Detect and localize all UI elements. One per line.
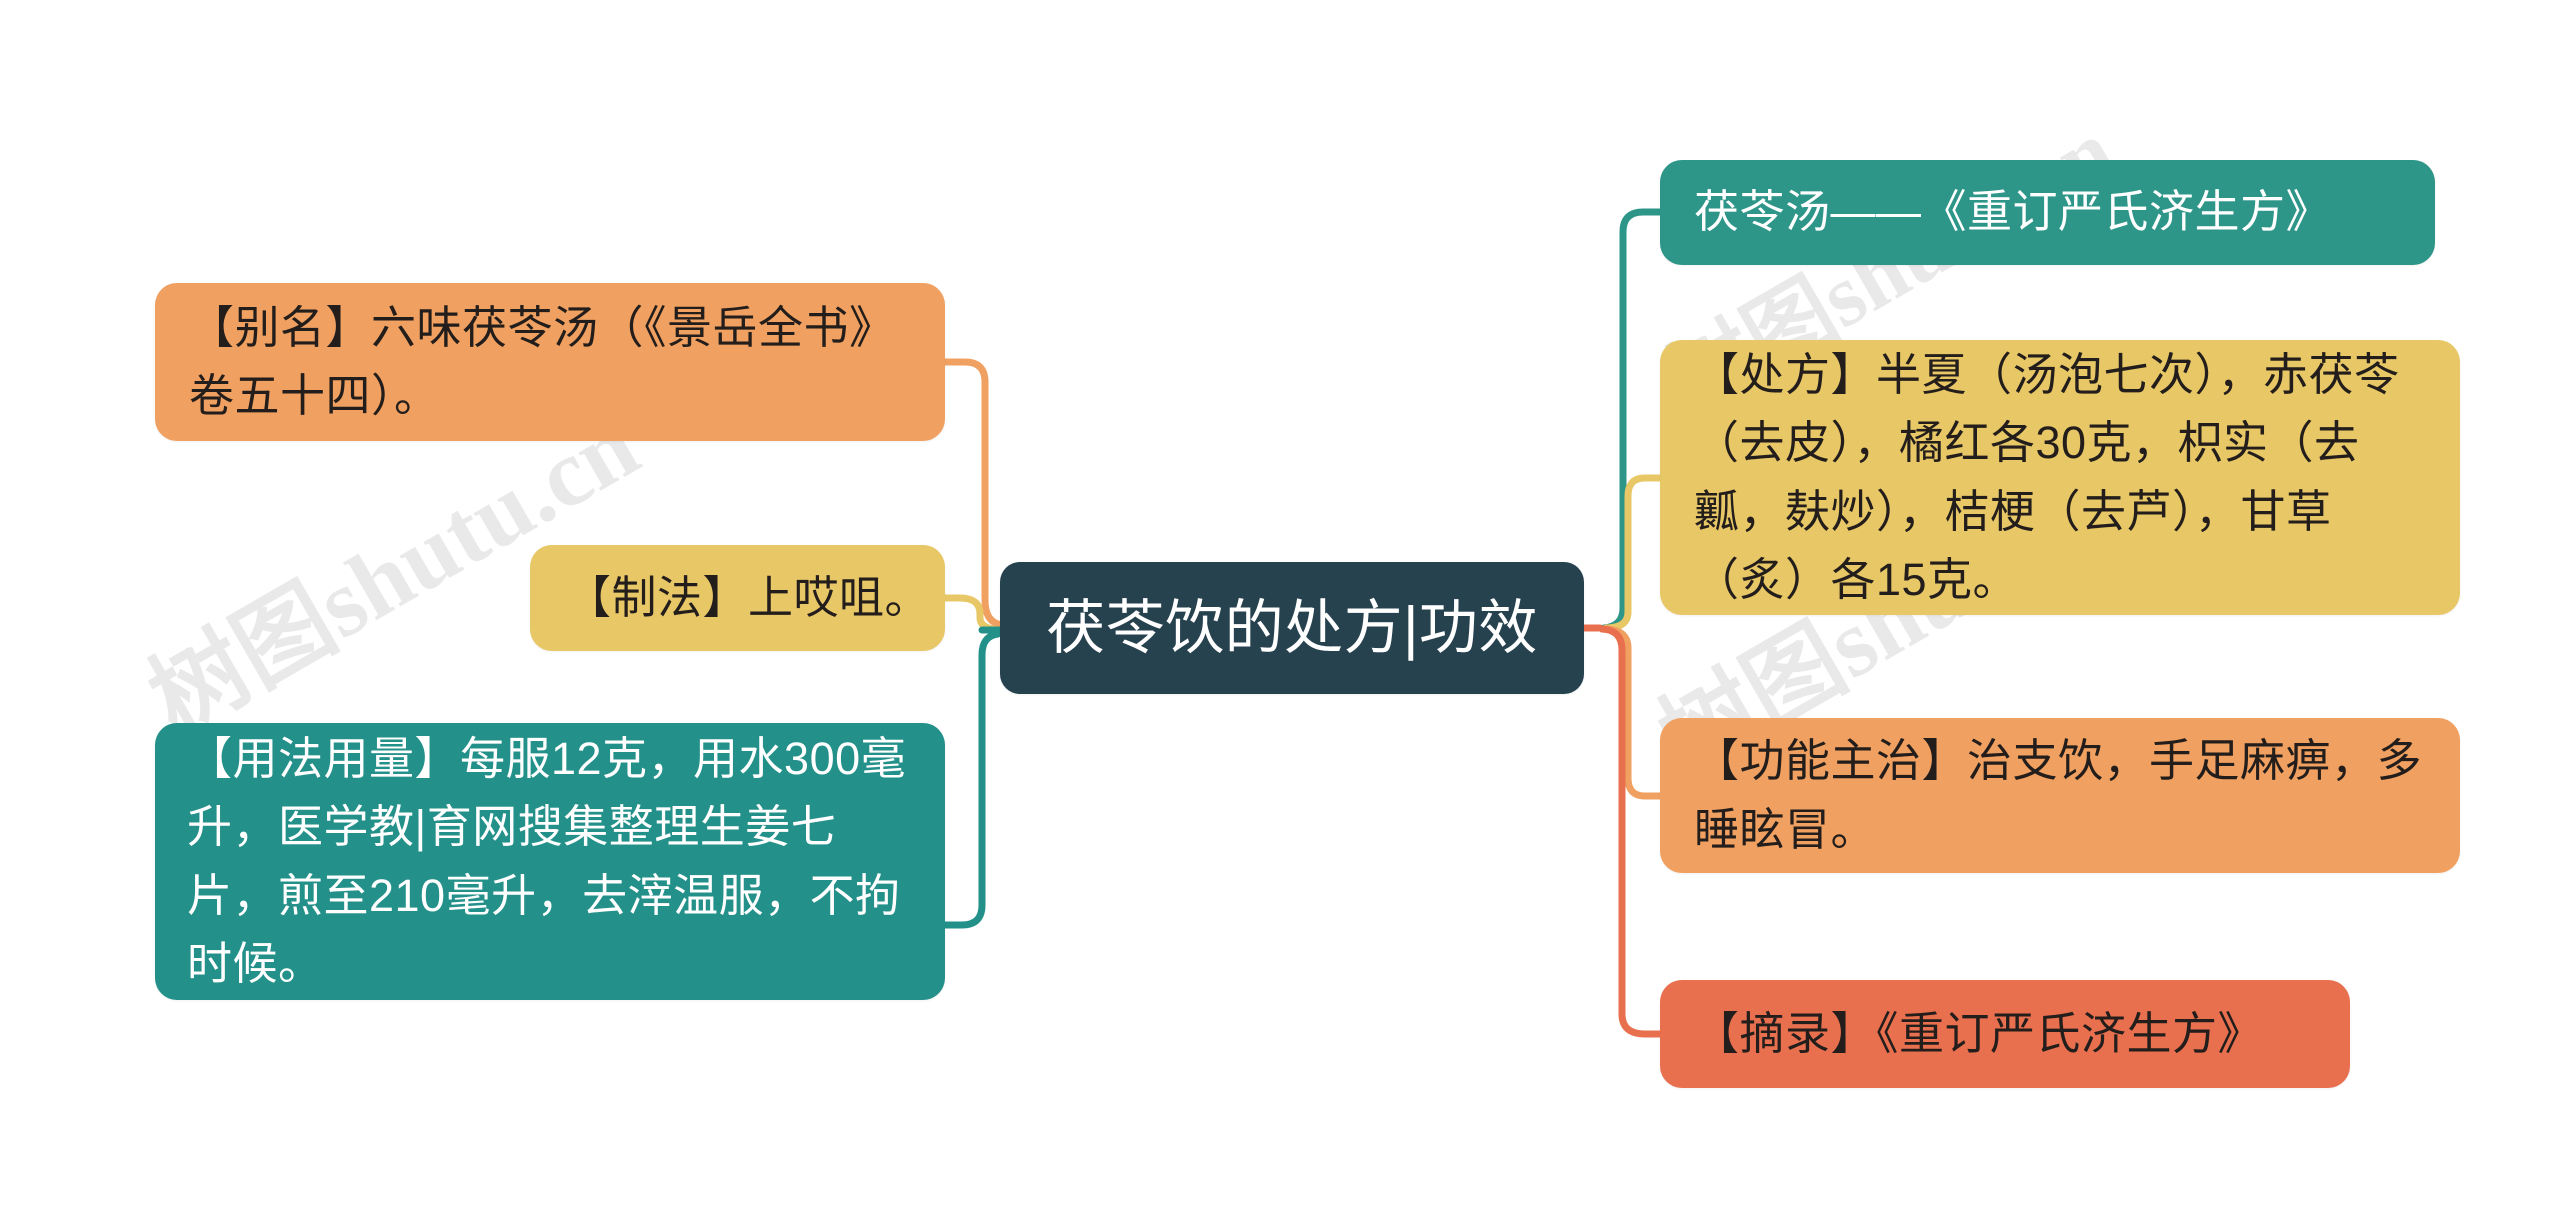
connector-prescription — [1606, 478, 1660, 628]
node-source-title[interactable]: 茯苓汤——《重订严氏济生方》 — [1660, 160, 2435, 265]
connector-method — [945, 598, 998, 630]
connector-indications — [1606, 629, 1660, 796]
center-node[interactable]: 茯苓饮的处方|功效 — [1000, 562, 1584, 694]
node-excerpt[interactable]: 【摘录】《重订严氏济生方》 — [1660, 980, 2350, 1088]
node-alias[interactable]: 【别名】六味茯苓汤（《景岳全书》卷五十四）。 — [155, 283, 945, 441]
connector-source-title — [1604, 212, 1660, 628]
center-node-label: 茯苓饮的处方|功效 — [1030, 596, 1554, 661]
node-alias-label: 【别名】六味茯苓汤（《景岳全书》卷五十四）。 — [189, 294, 911, 431]
connector-excerpt — [1602, 629, 1660, 1034]
node-excerpt-label: 【摘录】《重订严氏济生方》 — [1694, 1000, 2316, 1068]
node-dosage[interactable]: 【用法用量】每服12克，用水300毫升，医学教|育网搜集整理生姜七片，煎至210… — [155, 723, 945, 1000]
mindmap-canvas: 树图shutu.cn 树图shut 树图shutu.cn 茯苓饮的处方|功效 【… — [0, 0, 2560, 1225]
node-dosage-label: 【用法用量】每服12克，用水300毫升，医学教|育网搜集整理生姜七片，煎至210… — [187, 725, 913, 999]
node-prescription-label: 【处方】半夏（汤泡七次），赤茯苓（去皮），橘红各30克，枳实（去瓤，麸炒），桔梗… — [1694, 341, 2426, 615]
node-method[interactable]: 【制法】上哎咀。 — [530, 545, 945, 651]
node-prescription[interactable]: 【处方】半夏（汤泡七次），赤茯苓（去皮），橘红各30克，枳实（去瓤，麸炒），桔梗… — [1660, 340, 2460, 615]
node-source-title-label: 茯苓汤——《重订严氏济生方》 — [1694, 178, 2401, 246]
node-indications[interactable]: 【功能主治】治支饮，手足麻痹，多睡眩冒。 — [1660, 718, 2460, 873]
node-indications-label: 【功能主治】治支饮，手足麻痹，多睡眩冒。 — [1694, 727, 2426, 864]
connector-dosage — [945, 634, 998, 925]
connector-alias — [945, 362, 998, 624]
node-method-label: 【制法】上哎咀。 — [566, 564, 909, 632]
